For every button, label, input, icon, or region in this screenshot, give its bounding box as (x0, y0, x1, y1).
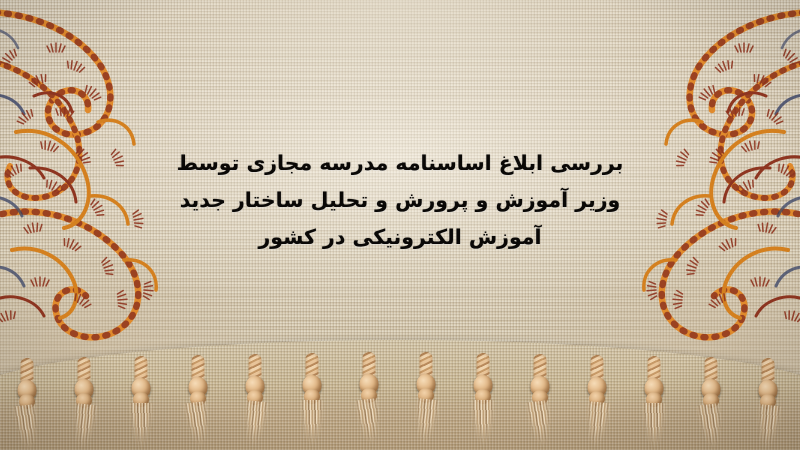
tassel (291, 353, 333, 449)
tassel (462, 353, 504, 449)
tassel (63, 357, 105, 450)
headline-line-2: وزیر آموزش و پرورش و تحلیل ساختار جدید (0, 182, 800, 219)
tassel-skirt (69, 403, 100, 450)
tassel (6, 358, 48, 450)
tassel (348, 352, 390, 448)
tassel (177, 355, 219, 450)
tassel (234, 354, 276, 450)
tassel-skirt (240, 400, 271, 448)
tassel (633, 356, 675, 450)
headline-text-block: بررسی ابلاغ اساسنامه مدرسه مجازی توسط وز… (0, 145, 800, 256)
tassel (747, 358, 789, 450)
tassel-skirt (411, 398, 442, 446)
headline-line-3: آموزش الکترونیکی در کشور (0, 219, 800, 256)
tassel (120, 356, 162, 450)
tassel-skirt (695, 403, 726, 450)
tassel (576, 355, 618, 450)
banner-stage: بررسی ابلاغ اساسنامه مدرسه مجازی توسط وز… (0, 0, 800, 450)
tassel-skirt (524, 400, 555, 449)
tassel (690, 357, 732, 450)
tassel-skirt (353, 398, 384, 447)
tassel-skirt (299, 400, 325, 446)
tassel-skirt (470, 400, 496, 446)
tassel (519, 354, 561, 450)
tassel (405, 352, 447, 448)
tassel-skirt (753, 404, 784, 450)
tassel-skirt (641, 403, 667, 449)
tassel-skirt (128, 403, 154, 449)
tassel-skirt (11, 403, 42, 450)
tassel-fringe (0, 352, 800, 450)
headline-line-1: بررسی ابلاغ اساسنامه مدرسه مجازی توسط (0, 145, 800, 182)
tassel-skirt (582, 401, 613, 449)
tassel-skirt (182, 401, 213, 450)
